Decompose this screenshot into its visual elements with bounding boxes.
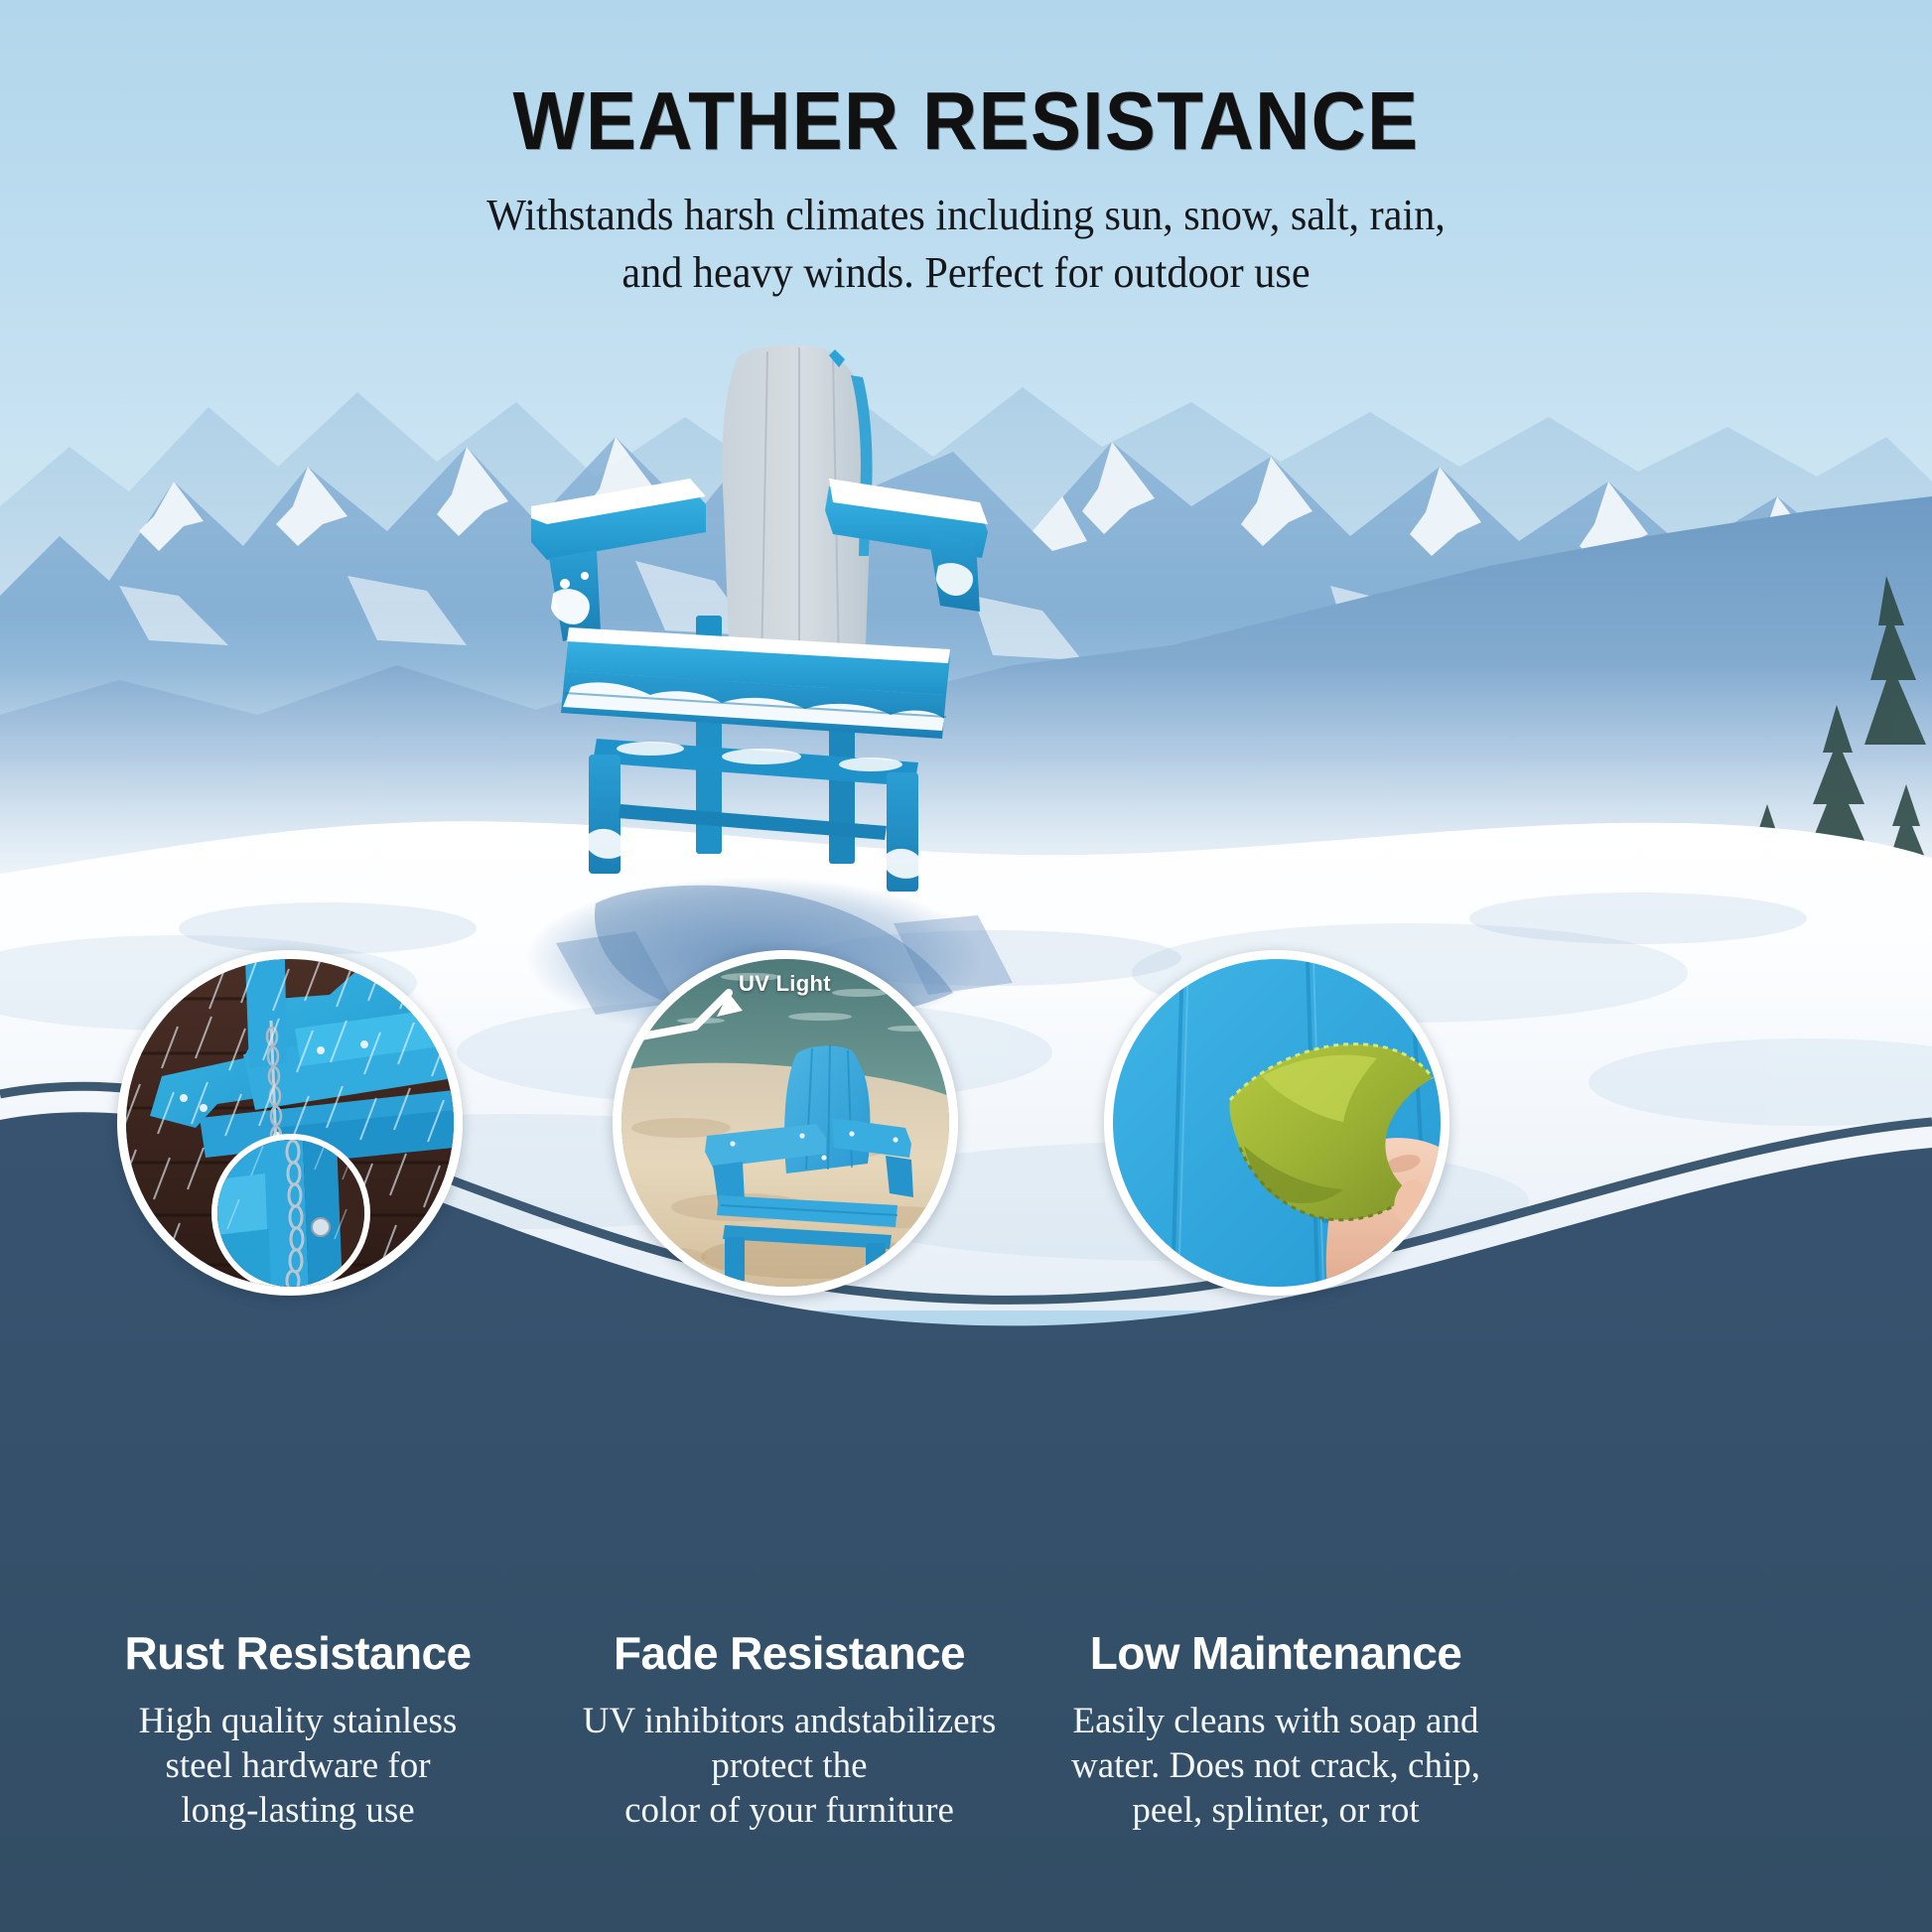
feature-desc-line-2: water. Does not crack, chip,: [1042, 1743, 1509, 1788]
feature-desc-line-1: UV inhibitors andstabilizers: [556, 1699, 1023, 1743]
subtitle-line-1: Withstands harsh climates including sun,…: [39, 187, 1893, 244]
feature-block-fade-resistance: Fade Resistance UV inhibitors andstabili…: [556, 1628, 1023, 1833]
infographic-root: WEATHER RESISTANCE Withstands harsh clim…: [0, 0, 1932, 1932]
uv-light-label: UV Light: [739, 971, 831, 997]
feature-title-rust-resistance: Rust Resistance: [65, 1628, 531, 1679]
feature-image-rust-resistance: [117, 950, 463, 1296]
hero-adirondack-chair: [501, 338, 1018, 903]
feature-block-rust-resistance: Rust Resistance High quality stainless s…: [65, 1628, 531, 1833]
page-title: WEATHER RESISTANCE: [77, 77, 1855, 165]
feature-desc-line-2: steel hardware for: [65, 1743, 531, 1788]
rust-hardware-inset-circle: [211, 1134, 370, 1293]
header-block: WEATHER RESISTANCE Withstands harsh clim…: [0, 77, 1932, 302]
feature-desc-low-maintenance: Easily cleans with soap and water. Does …: [1042, 1699, 1509, 1833]
feature-desc-fade-resistance: UV inhibitors andstabilizers protect the…: [556, 1699, 1023, 1833]
feature-title-low-maintenance: Low Maintenance: [1042, 1628, 1509, 1679]
chain-detail-photo: [217, 1140, 366, 1289]
fade-resistance-photo: [621, 959, 949, 1287]
feature-desc-line-1: High quality stainless: [65, 1699, 531, 1743]
feature-desc-rust-resistance: High quality stainless steel hardware fo…: [65, 1699, 531, 1833]
feature-desc-line-2: protect the: [556, 1743, 1023, 1788]
feature-block-low-maintenance: Low Maintenance Easily cleans with soap …: [1042, 1628, 1509, 1833]
feature-desc-line-1: Easily cleans with soap and: [1042, 1699, 1509, 1743]
feature-image-fade-resistance: UV Light: [613, 950, 958, 1296]
subtitle-line-2: and heavy winds. Perfect for outdoor use: [39, 244, 1893, 302]
feature-desc-line-3: color of your furniture: [556, 1788, 1023, 1833]
feature-desc-line-3: long-lasting use: [65, 1788, 531, 1833]
feature-title-fade-resistance: Fade Resistance: [556, 1628, 1023, 1679]
feature-image-low-maintenance: [1104, 950, 1449, 1296]
feature-desc-line-3: peel, splinter, or rot: [1042, 1788, 1509, 1833]
low-maintenance-photo: [1113, 959, 1441, 1287]
page-subtitle: Withstands harsh climates including sun,…: [0, 187, 1932, 302]
